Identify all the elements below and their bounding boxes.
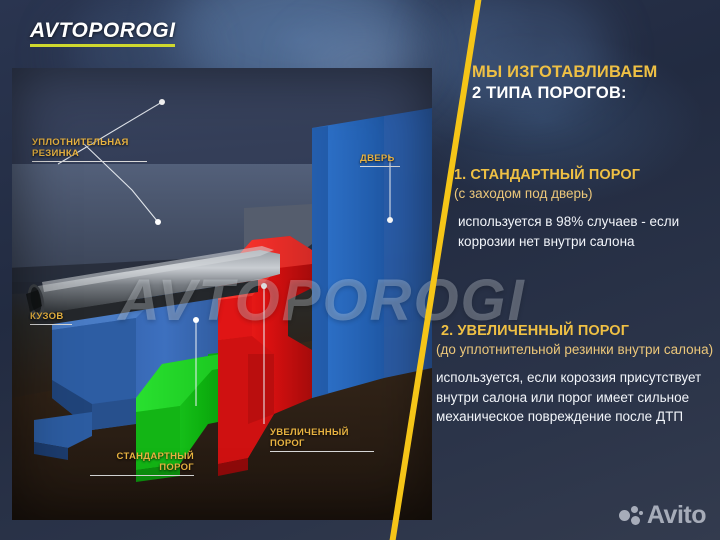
brand-logo: AVTOPOROGI xyxy=(30,20,175,47)
panel-heading: МЫ ИЗГОТАВЛИВАЕМ 2 ТИПА ПОРОГОВ: xyxy=(472,62,720,104)
section-extended: 2. УВЕЛИЧЕННЫЙ ПОРОГ (до уплотнительной … xyxy=(446,322,720,427)
section-extended-body: используется, если короззия присутствует… xyxy=(436,368,720,427)
avito-watermark: Avito xyxy=(619,503,706,528)
panel-heading-line1: МЫ ИЗГОТАВЛИВАЕМ xyxy=(472,62,720,83)
section-standard-title: 1. СТАНДАРТНЫЙ ПОРОГ xyxy=(454,166,720,185)
section-standard: 1. СТАНДАРТНЫЙ ПОРОГ (с заходом под двер… xyxy=(446,166,720,251)
brand-logo-text: AVTOPOROGI xyxy=(30,20,175,41)
info-column: МЫ ИЗГОТАВЛИВАЕМ 2 ТИПА ПОРОГОВ: 1. СТАН… xyxy=(446,0,720,540)
infographic-canvas: AVTOPOROGI xyxy=(0,0,720,540)
brand-logo-underline xyxy=(30,44,175,47)
section-extended-title: 2. УВЕЛИЧЕННЫЙ ПОРОГ xyxy=(441,322,720,341)
avito-dots-icon xyxy=(619,505,643,527)
section-standard-body: используется в 98% случаев - если корроз… xyxy=(458,212,720,251)
panel-heading-line2: 2 ТИПА ПОРОГОВ: xyxy=(472,83,720,104)
section-extended-subtitle: (до уплотнительной резинки внутри салона… xyxy=(436,341,720,359)
section-standard-subtitle: (с заходом под дверь) xyxy=(454,185,720,203)
avito-wordmark: Avito xyxy=(647,503,706,528)
diagram-vignette xyxy=(12,68,432,520)
sill-diagram-panel: УПЛОТНИТЕЛЬНАЯ РЕЗИНКА ДВЕРЬ КУЗОВ СТАНД… xyxy=(12,68,432,520)
